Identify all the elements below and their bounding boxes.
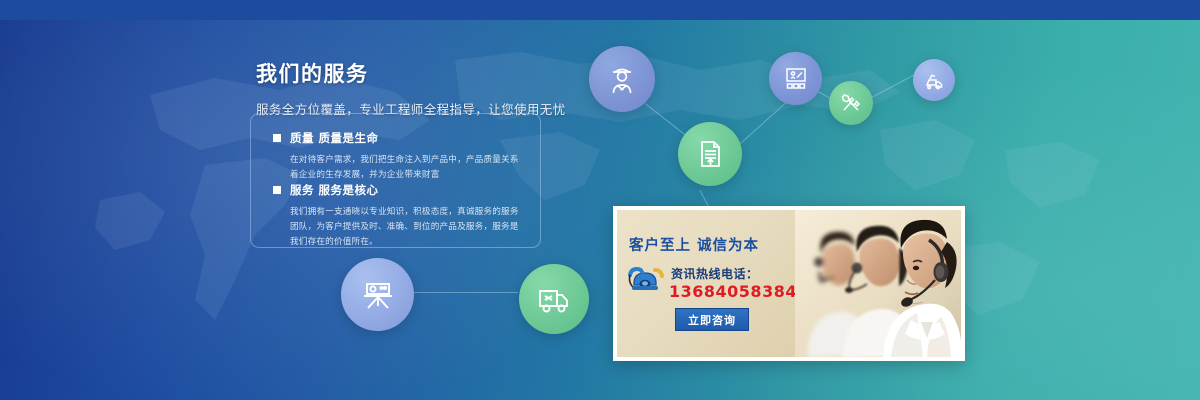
- service-node-network: [0, 0, 1200, 400]
- promo-text-side: 客户至上 诚信为本 资讯热线电话： 13684058384 立即咨询: [617, 210, 795, 357]
- feature-body: 我们拥有一支通晓以专业知识，积极态度，真诚服务的服务团队，为客户提供及时、准确、…: [290, 205, 523, 250]
- node-survey-tripod-icon[interactable]: [341, 258, 414, 331]
- square-bullet-icon: [273, 186, 281, 194]
- square-bullet-icon: [273, 134, 281, 142]
- service-hero-banner: 我们的服务 服务全方位覆盖，专业工程师全程指导，让您使用无忧 质量 质量是生命 …: [0, 0, 1200, 400]
- hotline-label: 资讯热线电话：: [671, 265, 759, 282]
- feature-title: 质量 质量是生命: [290, 130, 379, 146]
- promo-slogan: 客户至上 诚信为本: [629, 234, 759, 255]
- telephone-icon: [625, 262, 671, 306]
- node-training-board-icon[interactable]: [769, 52, 822, 105]
- feature-title: 服务 服务是核心: [290, 182, 379, 198]
- contact-promo-banner: 客户至上 诚信为本 资讯热线电话： 13684058384 立即咨询: [613, 206, 965, 361]
- node-link: [408, 292, 518, 293]
- hotline-number: 13684058384: [669, 282, 797, 301]
- feature-body: 在对待客户需求，我们把生命注入到产品中，产品质量关系着企业的生存发展，并为企业带…: [290, 153, 523, 183]
- features-panel: 质量 质量是生命 在对待客户需求，我们把生命注入到产品中，产品质量关系着企业的生…: [250, 113, 541, 248]
- node-handover-icon[interactable]: [913, 59, 955, 101]
- consult-now-button[interactable]: 立即咨询: [675, 308, 749, 331]
- node-document-upload-icon[interactable]: [678, 122, 742, 186]
- feature-item: 质量 质量是生命 在对待客户需求，我们把生命注入到产品中，产品质量关系着企业的生…: [273, 130, 523, 183]
- node-tools-icon[interactable]: [829, 81, 873, 125]
- page-title: 我们的服务: [256, 58, 556, 88]
- node-engineer-icon[interactable]: [589, 46, 655, 112]
- node-delivery-truck-icon[interactable]: [519, 264, 589, 334]
- call-center-agents-photo: [795, 210, 961, 357]
- feature-item: 服务 服务是核心 我们拥有一支通晓以专业知识，积极态度，真诚服务的服务团队，为客…: [273, 182, 523, 250]
- lead-text-block: 我们的服务 服务全方位覆盖，专业工程师全程指导，让您使用无忧: [256, 58, 556, 118]
